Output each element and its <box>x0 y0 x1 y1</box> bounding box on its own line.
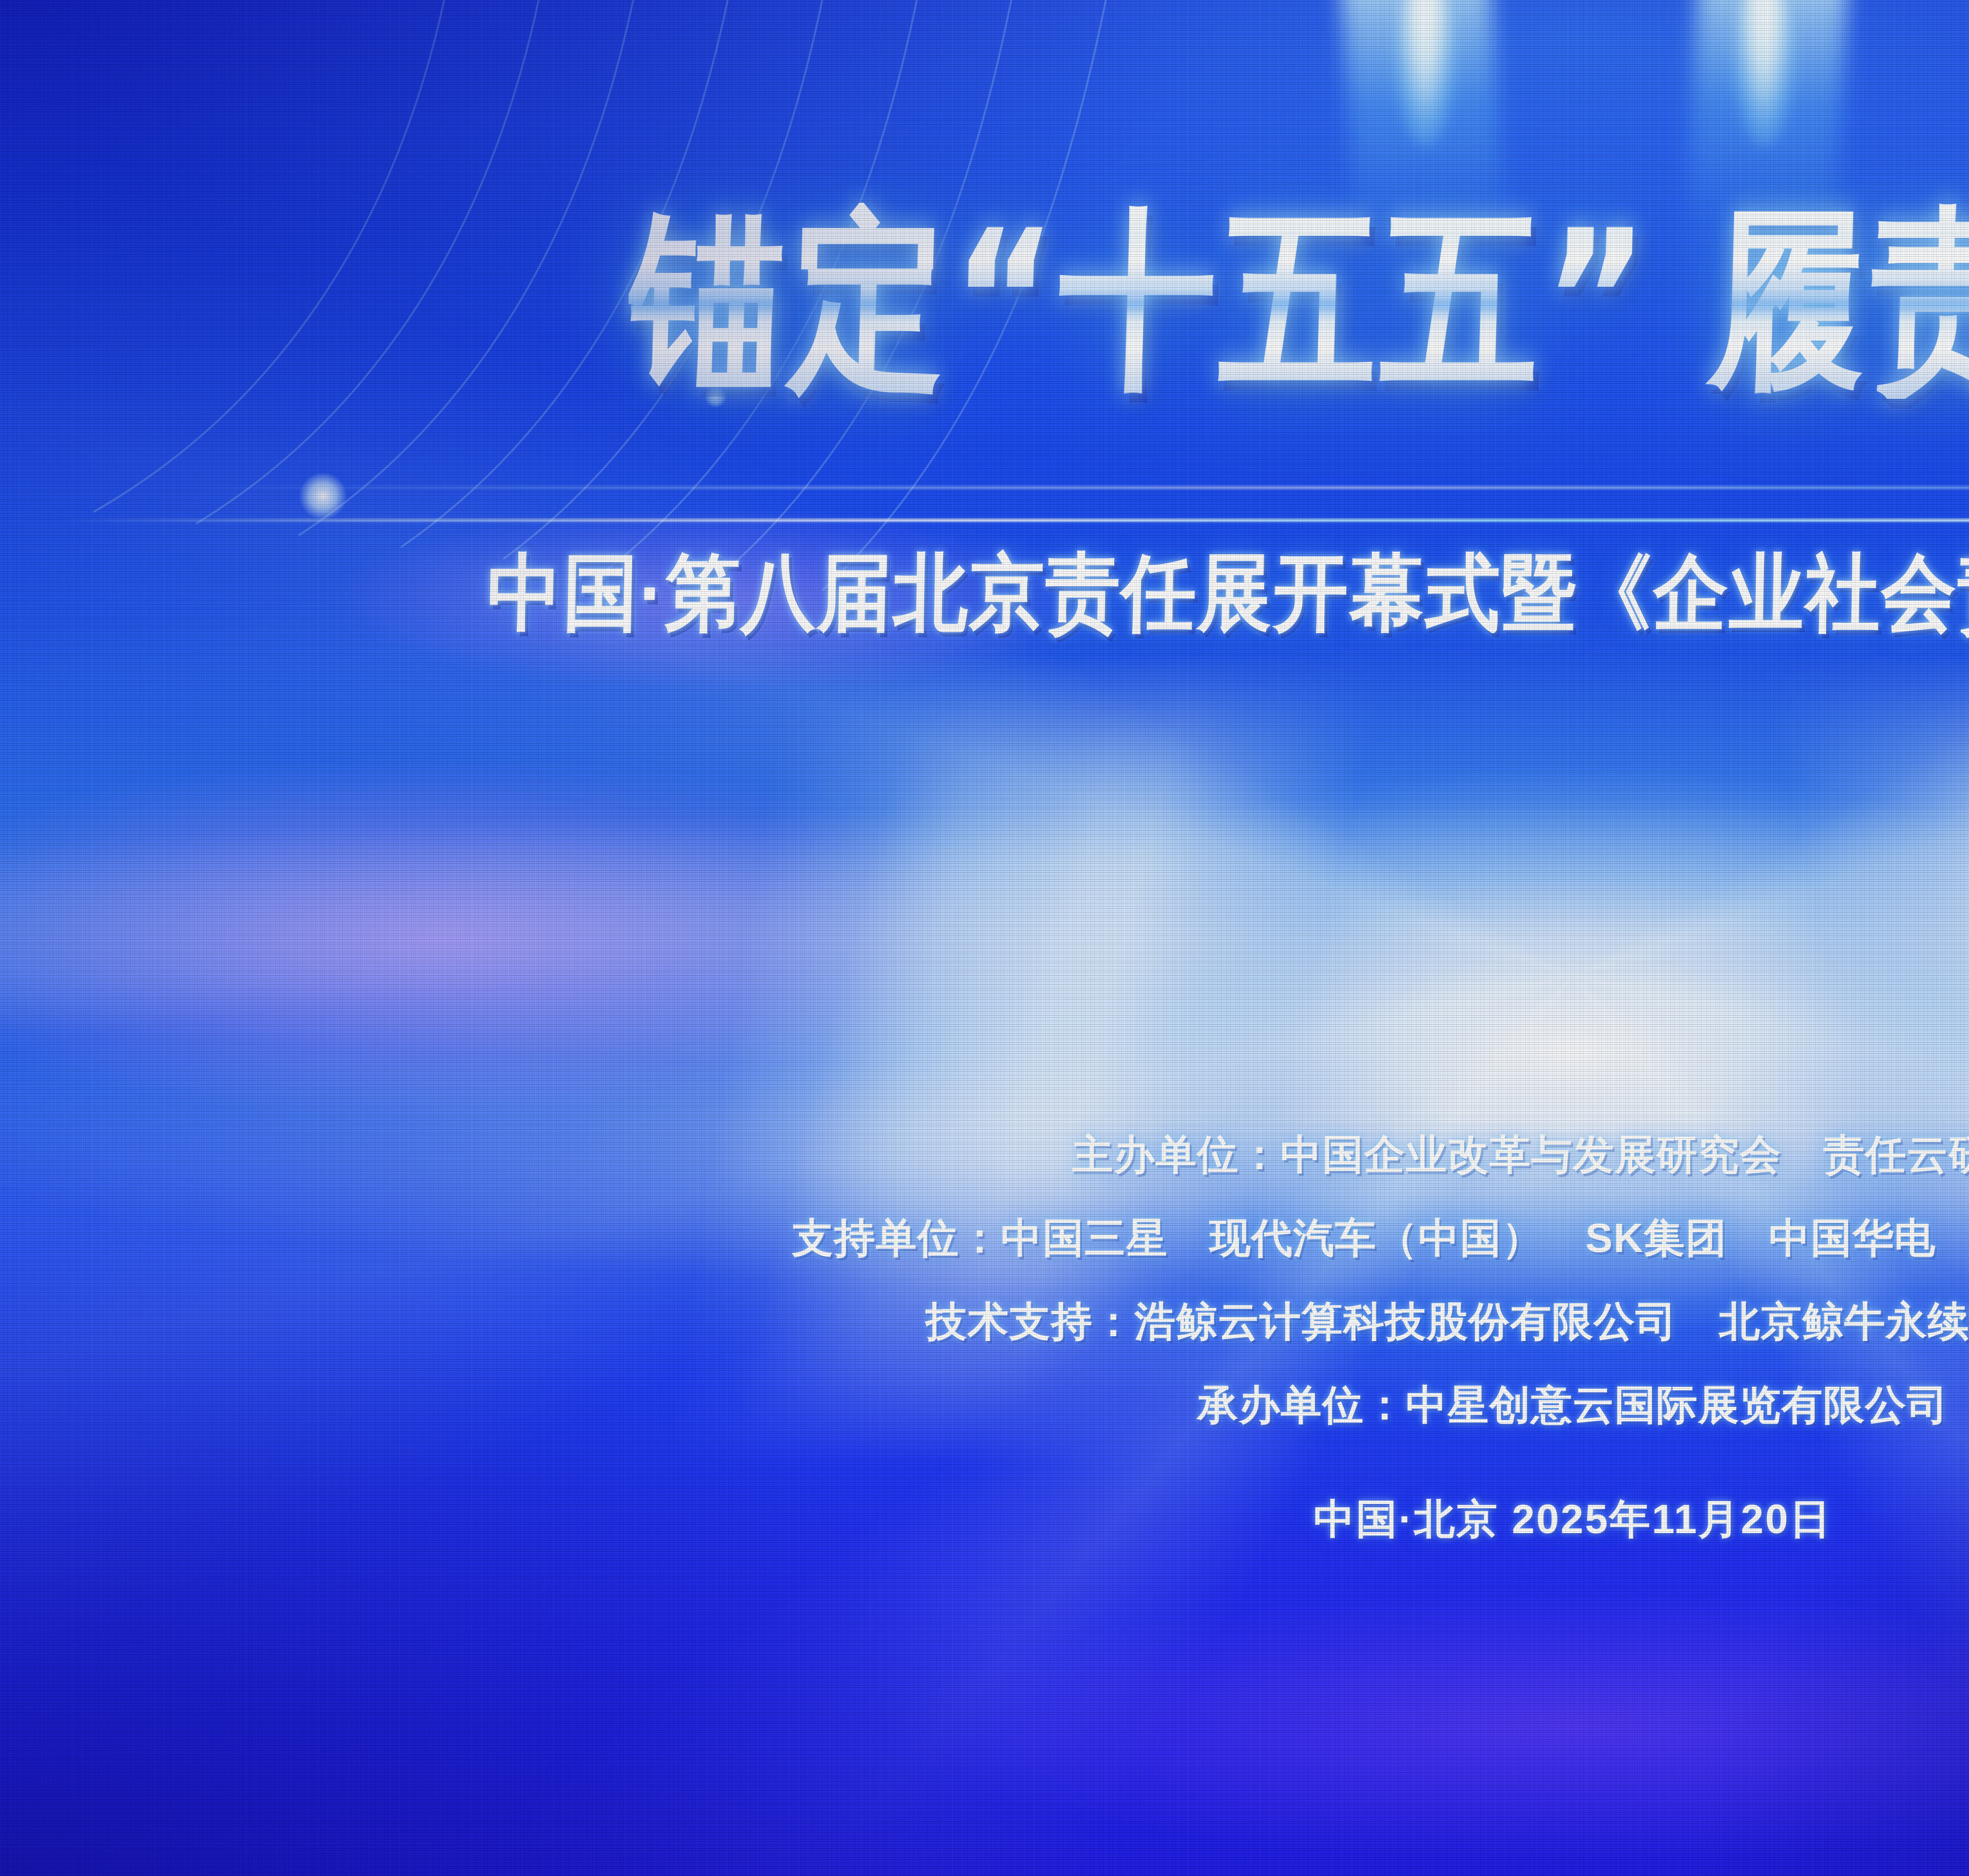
credit-line-tech-support: 技术支持：浩鲸云计算科技股份有限公司 北京鲸牛永续科技有限公司 <box>0 1301 1969 1342</box>
credit-line-host: 承办单位：中星创意云国际展览有限公司 <box>0 1384 1969 1425</box>
event-subtitle: 中国·第八届北京责任展开幕式暨《企业社会责任蓝皮书 (2025)》 <box>486 537 1969 650</box>
credit-line-organizer: 主办单位：中国企业改革与发展研究会 责任云研究院 <box>0 1134 1969 1175</box>
backdrop-content: 锚定“十五五” 履责新征程 中国·第八届北京责任展开幕式暨《企业社会责任蓝皮书 … <box>0 0 1969 1876</box>
stage-led-backdrop: 锚定“十五五” 履责新征程 中国·第八届北京责任展开幕式暨《企业社会责任蓝皮书 … <box>0 0 1969 1876</box>
credit-line-supporters: 支持单位：中国三星 现代汽车（中国） SK集团 中国华电 中国松下 一汽丰田 <box>0 1217 1969 1258</box>
event-date-location: 中国·北京 2025年11月20日 <box>0 1492 1969 1547</box>
event-headline: 锚定“十五五” 履责新征程 <box>626 203 1969 399</box>
headline-container: 锚定“十五五” 履责新征程 <box>0 220 1969 381</box>
subtitle-container: 中国·第八届北京责任展开幕式暨《企业社会责任蓝皮书 (2025)》 <box>0 543 1969 644</box>
credits-block: 主办单位：中国企业改革与发展研究会 责任云研究院 支持单位：中国三星 现代汽车（… <box>0 1134 1969 1547</box>
